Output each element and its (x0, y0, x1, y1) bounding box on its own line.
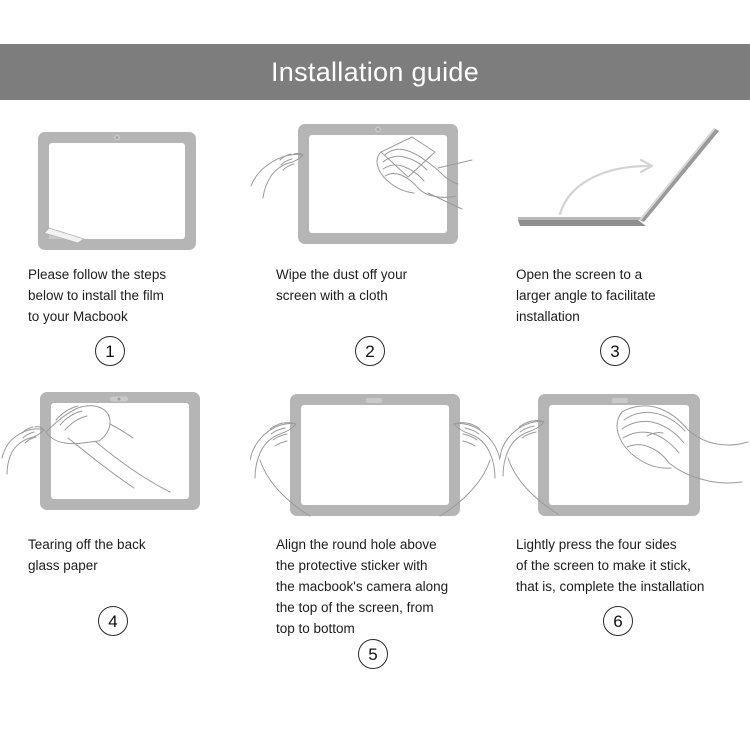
step-number-badge-2: 2 (355, 336, 385, 366)
steps-grid: Please follow the steps below to install… (0, 110, 750, 669)
step-panel-1: Please follow the steps below to install… (0, 110, 250, 366)
step-number-badge-5: 5 (358, 639, 388, 669)
illustration-hands-wiping-screen-with-cloth (250, 110, 500, 252)
step-caption-5: Align the round hole above the protectiv… (250, 522, 500, 639)
step-caption-2: Wipe the dust off your screen with a clo… (250, 252, 500, 336)
illustration-hands-tearing-back-paper (0, 380, 250, 522)
step-caption-4: Tearing off the back glass paper (0, 522, 250, 606)
step-caption-6: Lightly press the four sides of the scre… (500, 522, 750, 606)
step-number-wrap-3: 3 (500, 336, 750, 366)
step-number-wrap-6: 6 (500, 606, 750, 636)
step-number-badge-3: 3 (600, 336, 630, 366)
step-number-badge-4: 4 (98, 606, 128, 636)
step-caption-1: Please follow the steps below to install… (0, 252, 250, 336)
step-number-badge-6: 6 (603, 606, 633, 636)
page-header-band: Installation guide (0, 44, 750, 100)
step-number-badge-1: 1 (95, 336, 125, 366)
step-panel-5: Align the round hole above the protectiv… (250, 380, 500, 669)
page-title: Installation guide (271, 59, 479, 86)
step-panel-2: Wipe the dust off your screen with a clo… (250, 110, 500, 366)
step-caption-3: Open the screen to a larger angle to fac… (500, 252, 750, 336)
step-panel-3: Open the screen to a larger angle to fac… (500, 110, 750, 366)
illustration-screen-with-peeling-film-corner (0, 110, 250, 252)
illustration-hand-pressing-screen-edges (500, 380, 750, 522)
step-panel-6: Lightly press the four sides of the scre… (500, 380, 750, 669)
illustration-two-hands-aligning-film (250, 380, 500, 522)
illustration-laptop-side-profile-opening-arrow (500, 110, 750, 252)
step-panel-4: Tearing off the back glass paper 4 (0, 380, 250, 669)
installation-guide-page: Installation guide Please follow the ste… (0, 0, 750, 750)
